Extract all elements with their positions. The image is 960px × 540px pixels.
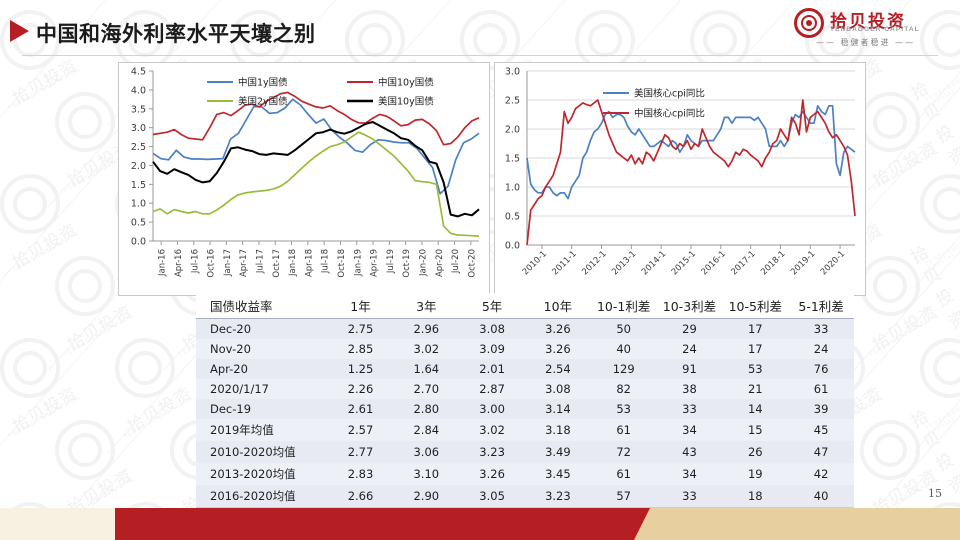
table-cell: 3.05 bbox=[459, 485, 525, 508]
table-cell: 42 bbox=[788, 463, 854, 485]
table-cell: 3.09 bbox=[459, 339, 525, 359]
table-cell: 2.85 bbox=[328, 339, 394, 359]
svg-text:美国2y国债: 美国2y国债 bbox=[238, 96, 288, 108]
svg-text:Oct-16: Oct-16 bbox=[207, 249, 217, 278]
svg-text:中国核心cpi同比: 中国核心cpi同比 bbox=[634, 108, 705, 120]
table-cell: 2.61 bbox=[328, 399, 394, 419]
svg-text:0.5: 0.5 bbox=[505, 212, 520, 223]
table-row-label: 2010-2020均值 bbox=[196, 441, 328, 463]
svg-text:2.5: 2.5 bbox=[131, 142, 146, 153]
table-cell: 17 bbox=[722, 339, 788, 359]
table-row-label: 2019年均值 bbox=[196, 419, 328, 441]
core-cpi-plot: 0.00.51.01.52.02.53.02010-12011-12012-12… bbox=[495, 63, 863, 293]
svg-text:Jan-19: Jan-19 bbox=[353, 249, 363, 277]
svg-text:2016-1: 2016-1 bbox=[700, 249, 728, 277]
svg-text:3.5: 3.5 bbox=[131, 104, 146, 115]
chart-bond-yields: 0.00.51.01.52.02.53.03.54.04.5Jan-16Apr-… bbox=[118, 62, 490, 296]
table-cell: 34 bbox=[657, 463, 723, 485]
table-cell: 26 bbox=[722, 441, 788, 463]
table-cell: 2.26 bbox=[328, 379, 394, 399]
svg-text:0.0: 0.0 bbox=[131, 237, 146, 248]
svg-text:Apr-17: Apr-17 bbox=[239, 249, 249, 277]
table-cell: 2.83 bbox=[328, 463, 394, 485]
table-cell: 39 bbox=[788, 399, 854, 419]
table-cell: 2.87 bbox=[459, 379, 525, 399]
table-col-header: 5年 bbox=[459, 293, 525, 319]
triangle-right-icon bbox=[10, 20, 29, 42]
table-cell: 3.06 bbox=[393, 441, 459, 463]
svg-text:3.0: 3.0 bbox=[505, 67, 520, 78]
table-cell: 2.66 bbox=[328, 485, 394, 508]
svg-text:0.0: 0.0 bbox=[505, 241, 520, 252]
table-cell: 19 bbox=[722, 463, 788, 485]
table-cell: 15 bbox=[722, 419, 788, 441]
table-col-header: 5-1利差 bbox=[788, 293, 854, 319]
table-cell: 3.23 bbox=[525, 485, 591, 508]
table-col-header: 国债收益率 bbox=[196, 293, 328, 319]
svg-text:Apr-18: Apr-18 bbox=[304, 249, 314, 277]
table-cell: 3.26 bbox=[525, 339, 591, 359]
table-col-header: 3年 bbox=[393, 293, 459, 319]
table-cell: 72 bbox=[591, 441, 657, 463]
table-row-label: 2016-2020均值 bbox=[196, 485, 328, 508]
table-body: Dec-202.752.963.083.2650291733Nov-202.85… bbox=[196, 319, 854, 508]
svg-text:2013-1: 2013-1 bbox=[610, 249, 638, 277]
table-cell: 21 bbox=[722, 379, 788, 399]
table-row-label: Apr-20 bbox=[196, 359, 328, 379]
table-cell: 2.70 bbox=[393, 379, 459, 399]
footer-segment-cream bbox=[0, 508, 115, 540]
logo-name-en: TENBAGGER CAPITAL bbox=[830, 26, 920, 33]
table-row-label: 2020/1/17 bbox=[196, 379, 328, 399]
table-cell: 3.08 bbox=[459, 319, 525, 340]
svg-text:Jul-18: Jul-18 bbox=[321, 249, 331, 274]
table-cell: 129 bbox=[591, 359, 657, 379]
table-cell: 43 bbox=[657, 441, 723, 463]
table-cell: 57 bbox=[591, 485, 657, 508]
table-row: 2013-2020均值2.833.103.263.4561341942 bbox=[196, 463, 854, 485]
table-cell: 3.45 bbox=[525, 463, 591, 485]
table-cell: 2.01 bbox=[459, 359, 525, 379]
table-cell: 2.96 bbox=[393, 319, 459, 340]
table-cell: 17 bbox=[722, 319, 788, 340]
table-cell: 40 bbox=[591, 339, 657, 359]
table-cell: 14 bbox=[722, 399, 788, 419]
svg-text:Oct-19: Oct-19 bbox=[402, 249, 412, 278]
table-cell: 24 bbox=[788, 339, 854, 359]
svg-text:2019-1: 2019-1 bbox=[789, 249, 817, 277]
svg-text:2014-1: 2014-1 bbox=[640, 249, 668, 277]
table-cell: 34 bbox=[657, 419, 723, 441]
svg-text:Oct-20: Oct-20 bbox=[467, 249, 477, 278]
table-cell: 3.02 bbox=[393, 339, 459, 359]
table-cell: 3.26 bbox=[525, 319, 591, 340]
table-col-header: 10-5利差 bbox=[722, 293, 788, 319]
table-row: 2010-2020均值2.773.063.233.4972432647 bbox=[196, 441, 854, 463]
table-cell: 2.75 bbox=[328, 319, 394, 340]
table-cell: 38 bbox=[657, 379, 723, 399]
svg-text:2011-1: 2011-1 bbox=[550, 249, 578, 277]
bond-yield-table-wrapper: 国债收益率1年3年5年10年10-1利差10-3利差10-5利差5-1利差 De… bbox=[196, 293, 854, 508]
table-cell: 61 bbox=[591, 419, 657, 441]
svg-text:2.5: 2.5 bbox=[505, 96, 520, 107]
svg-text:Apr-16: Apr-16 bbox=[174, 249, 184, 277]
svg-text:Jul-19: Jul-19 bbox=[386, 249, 396, 274]
header-divider bbox=[22, 55, 938, 56]
table-cell: 2.57 bbox=[328, 419, 394, 441]
page-title: 中国和海外利率水平天壤之别 bbox=[36, 18, 316, 48]
table-row-label: 2013-2020均值 bbox=[196, 463, 328, 485]
svg-text:2010-1: 2010-1 bbox=[521, 249, 549, 277]
svg-text:2018-1: 2018-1 bbox=[759, 249, 787, 277]
table-row-label: Dec-19 bbox=[196, 399, 328, 419]
table-cell: 91 bbox=[657, 359, 723, 379]
table-cell: 3.14 bbox=[525, 399, 591, 419]
table-cell: 53 bbox=[722, 359, 788, 379]
svg-text:Jan-20: Jan-20 bbox=[418, 249, 428, 277]
table-cell: 2.84 bbox=[393, 419, 459, 441]
table-cell: 33 bbox=[657, 399, 723, 419]
bond-yields-plot: 0.00.51.01.52.02.53.03.54.04.5Jan-16Apr-… bbox=[119, 63, 487, 293]
table-cell: 33 bbox=[788, 319, 854, 340]
svg-text:Jul-16: Jul-16 bbox=[190, 249, 200, 274]
table-cell: 1.64 bbox=[393, 359, 459, 379]
svg-text:美国核心cpi同比: 美国核心cpi同比 bbox=[634, 88, 705, 100]
footer-segment-red bbox=[115, 508, 645, 540]
table-row-label: Dec-20 bbox=[196, 319, 328, 340]
svg-text:1.5: 1.5 bbox=[131, 180, 146, 191]
table-cell: 40 bbox=[788, 485, 854, 508]
svg-text:2.0: 2.0 bbox=[505, 125, 520, 136]
table-row: 2016-2020均值2.662.903.053.2357331840 bbox=[196, 485, 854, 508]
table-row: 2020/1/172.262.702.873.0882382161 bbox=[196, 379, 854, 399]
table-cell: 3.02 bbox=[459, 419, 525, 441]
table-cell: 61 bbox=[591, 463, 657, 485]
footer-segment-tan bbox=[650, 508, 960, 540]
table-cell: 18 bbox=[722, 485, 788, 508]
slide-footer bbox=[0, 508, 960, 540]
svg-text:Jan-18: Jan-18 bbox=[288, 249, 298, 277]
table-header-row: 国债收益率1年3年5年10年10-1利差10-3利差10-5利差5-1利差 bbox=[196, 293, 854, 319]
table-cell: 3.26 bbox=[459, 463, 525, 485]
table-col-header: 10年 bbox=[525, 293, 591, 319]
table-cell: 29 bbox=[657, 319, 723, 340]
table-cell: 2.77 bbox=[328, 441, 394, 463]
svg-text:Jan-16: Jan-16 bbox=[158, 249, 168, 277]
table-cell: 61 bbox=[788, 379, 854, 399]
table-row: 2019年均值2.572.843.023.1861341545 bbox=[196, 419, 854, 441]
svg-text:4.0: 4.0 bbox=[131, 85, 146, 96]
table-cell: 3.49 bbox=[525, 441, 591, 463]
svg-text:中国10y国债: 中国10y国债 bbox=[378, 77, 434, 89]
svg-text:2017-1: 2017-1 bbox=[729, 249, 757, 277]
table-cell: 47 bbox=[788, 441, 854, 463]
table-cell: 3.00 bbox=[459, 399, 525, 419]
table-cell: 76 bbox=[788, 359, 854, 379]
table-cell: 2.90 bbox=[393, 485, 459, 508]
svg-text:Oct-17: Oct-17 bbox=[272, 249, 282, 278]
slide-header: 中国和海外利率水平天壤之别 拾贝投资 TENBAGGER CAPITAL —— … bbox=[0, 0, 960, 58]
svg-text:2.0: 2.0 bbox=[131, 161, 146, 172]
svg-text:2015-1: 2015-1 bbox=[670, 249, 698, 277]
table-cell: 2.54 bbox=[525, 359, 591, 379]
svg-text:Apr-19: Apr-19 bbox=[370, 249, 380, 277]
table-row-label: Nov-20 bbox=[196, 339, 328, 359]
table-cell: 50 bbox=[591, 319, 657, 340]
table-col-header: 10-3利差 bbox=[657, 293, 723, 319]
table-cell: 1.25 bbox=[328, 359, 394, 379]
table-row: Apr-201.251.642.012.54129915376 bbox=[196, 359, 854, 379]
table-cell: 45 bbox=[788, 419, 854, 441]
svg-text:Oct-18: Oct-18 bbox=[337, 249, 347, 278]
table-cell: 3.08 bbox=[525, 379, 591, 399]
svg-text:1.5: 1.5 bbox=[505, 154, 520, 165]
table-cell: 82 bbox=[591, 379, 657, 399]
table-col-header: 1年 bbox=[328, 293, 394, 319]
svg-text:4.5: 4.5 bbox=[131, 67, 146, 78]
logo-slogan: —— 稳健者稳进 —— bbox=[816, 37, 915, 48]
svg-text:1.0: 1.0 bbox=[131, 199, 146, 210]
table-cell: 33 bbox=[657, 485, 723, 508]
tenbagger-spiral-logo-icon bbox=[794, 8, 824, 38]
svg-text:0.5: 0.5 bbox=[131, 218, 146, 229]
svg-text:2020-1: 2020-1 bbox=[819, 249, 847, 277]
table-cell: 3.10 bbox=[393, 463, 459, 485]
table-row: Dec-192.612.803.003.1453331439 bbox=[196, 399, 854, 419]
svg-text:美国10y国债: 美国10y国债 bbox=[378, 96, 434, 108]
svg-text:Jul-17: Jul-17 bbox=[255, 249, 265, 274]
svg-text:1.0: 1.0 bbox=[505, 183, 520, 194]
table-cell: 3.23 bbox=[459, 441, 525, 463]
table-cell: 3.18 bbox=[525, 419, 591, 441]
table-cell: 2.80 bbox=[393, 399, 459, 419]
svg-text:Jul-20: Jul-20 bbox=[451, 249, 461, 274]
bond-yield-table: 国债收益率1年3年5年10年10-1利差10-3利差10-5利差5-1利差 De… bbox=[196, 293, 854, 508]
svg-text:Jan-17: Jan-17 bbox=[223, 249, 233, 277]
page-number: 15 bbox=[928, 487, 942, 500]
svg-text:中国1y国债: 中国1y国债 bbox=[238, 77, 288, 89]
chart-core-cpi: 0.00.51.01.52.02.53.02010-12011-12012-12… bbox=[494, 62, 866, 296]
svg-text:2012-1: 2012-1 bbox=[580, 249, 608, 277]
table-row: Nov-202.853.023.093.2640241724 bbox=[196, 339, 854, 359]
table-col-header: 10-1利差 bbox=[591, 293, 657, 319]
svg-text:Apr-20: Apr-20 bbox=[435, 249, 445, 277]
company-logo: 拾贝投资 TENBAGGER CAPITAL —— 稳健者稳进 —— bbox=[794, 6, 944, 52]
table-cell: 24 bbox=[657, 339, 723, 359]
table-row: Dec-202.752.963.083.2650291733 bbox=[196, 319, 854, 340]
table-cell: 53 bbox=[591, 399, 657, 419]
svg-text:3.0: 3.0 bbox=[131, 123, 146, 134]
